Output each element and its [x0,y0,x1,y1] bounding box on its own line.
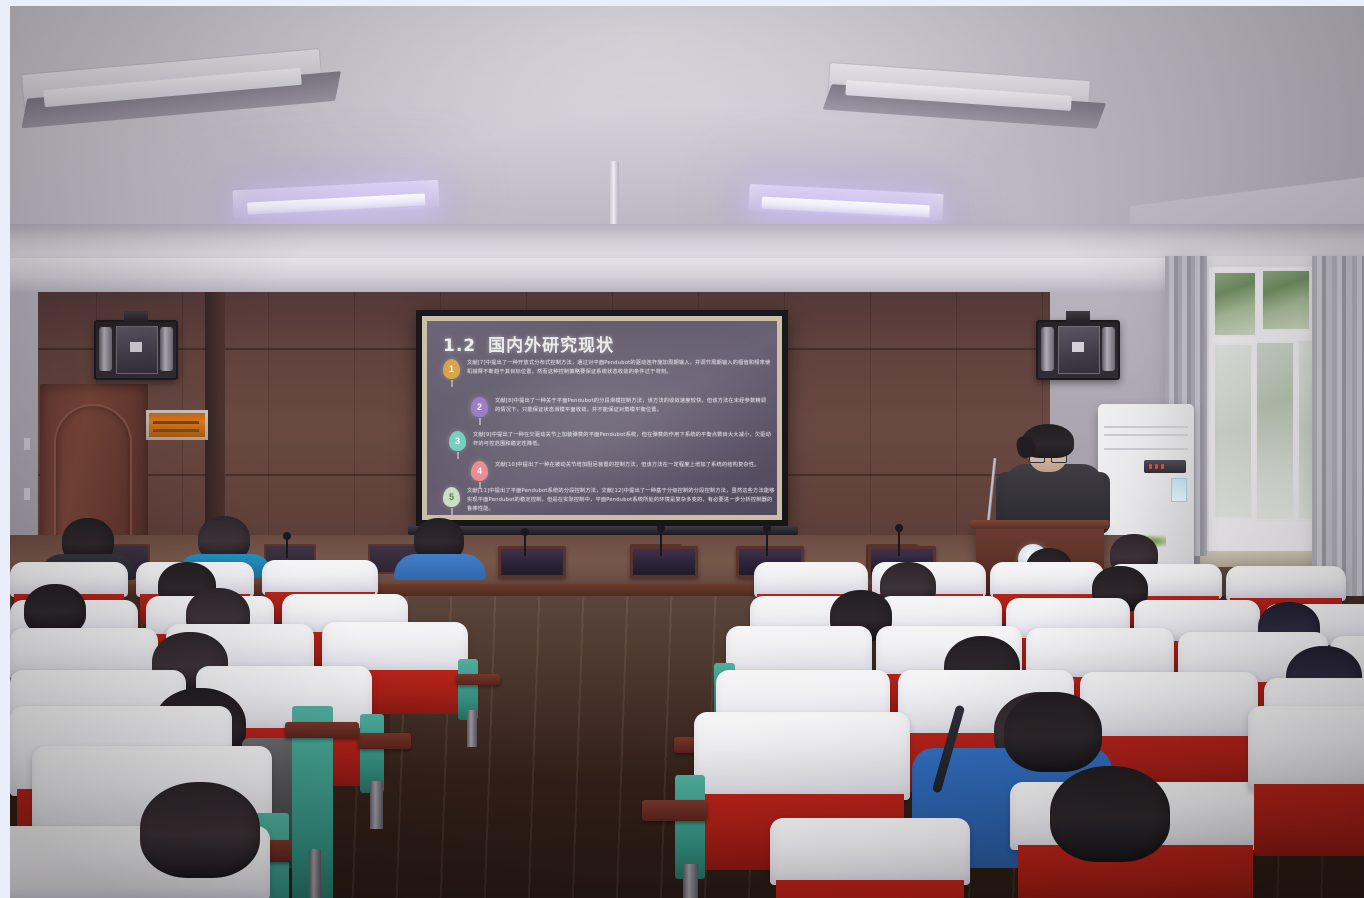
audience-head [1004,692,1102,772]
seat[interactable] [280,706,400,898]
slide-title-text: 国内外研究现状 [488,336,614,356]
speaker-side-driver [1102,327,1115,371]
bullet-text-1: 文献[7]中提出了一种开放式分布式控制方法，通过对平面Pendubot的驱动连杆… [467,359,773,379]
seat-armrest [285,722,359,738]
seat-armrest [642,800,707,821]
bullet-marker-1: 1 [443,359,460,379]
window-pane-mid-left [1213,343,1253,519]
seat-backrest [776,880,964,898]
bullet-number: 2 [477,402,482,412]
bullet-number: 4 [477,466,482,476]
slide-title: 1.2国内外研究现状 [443,331,614,356]
seat-leg [467,710,477,747]
bullet-text-2: 文献[8]中提出了一种关于平面Pendubot的分段滑模控制方法，该方法的收敛速… [495,397,771,417]
speaker-bracket [1066,311,1090,322]
bullet-marker-2: 2 [471,397,488,417]
slide-bullet-3: 3 文献[9]中提出了一种在欠驱动关节上加装弹簧的平面Pendubot系统，但在… [449,431,773,451]
amber-wall-plaque [146,410,208,440]
ac-vent-slat [1104,434,1188,436]
desk-monitor [498,546,566,578]
window-pane-mid-center [1255,341,1295,521]
slide-bullet-2: 2 文献[8]中提出了一种关于平面Pendubot的分段滑模控制方法，该方法的收… [471,397,771,417]
presentation-slide: 1.2国内外研究现状 1 文献[7]中提出了一种开放式分布式控制方法，通过对平面… [422,316,782,520]
slide-bullet-1: 1 文献[7]中提出了一种开放式分布式控制方法，通过对平面Pendubot的驱动… [443,359,773,379]
audience-head [1050,766,1170,862]
bullet-number: 3 [455,436,460,446]
desk-monitor [630,546,698,578]
ac-label-sticker [1171,478,1187,502]
seat-cover [262,560,378,595]
projector-mount-pole [610,161,619,233]
seat-backrest [1254,784,1364,856]
seat-cover [1080,672,1258,741]
window-frame [1206,264,1316,584]
seat-cover [1226,566,1346,601]
slide-section-number: 1.2 [443,336,476,356]
bullet-marker-4: 4 [471,461,488,481]
ceiling-soffit-edge [10,258,1364,296]
ac-display [1144,460,1186,473]
bullet-number: 1 [449,364,454,374]
screenshot-root: 1.2国内外研究现状 1 文献[7]中提出了一种开放式分布式控制方法，通过对平面… [0,0,1364,898]
audience-shoulders [394,554,486,580]
seat-cover [1248,706,1364,790]
speaker-side-driver [1041,327,1054,371]
window-pane-top-left [1213,271,1257,337]
gooseneck-microphone [286,538,288,558]
bullet-marker-3: 3 [449,431,466,451]
bullet-marker-5: 5 [443,487,460,507]
projection-screen-bottom-bar [408,526,798,535]
wall-speaker-right [1036,320,1120,380]
speaker-side-driver [99,327,112,371]
seat-cover [770,818,970,885]
ac-vent-slat [1104,448,1188,450]
speaker-side-driver [160,327,173,371]
plaque-face [149,413,205,437]
lecture-hall-photo: 1.2国内外研究现状 1 文献[7]中提出了一种开放式分布式控制方法，通过对平面… [10,6,1364,898]
wall-speaker-left [94,320,178,380]
ac-vent-slat [1104,426,1188,428]
audience-head [140,782,260,878]
seat-cover [694,712,910,800]
bullet-text-3: 文献[9]中提出了一种在欠驱动关节上加装弹簧的平面Pendubot系统，但在弹簧… [473,431,773,451]
gooseneck-microphone [524,534,526,556]
seat-leg [309,849,321,898]
speaker-badge [130,342,142,352]
gooseneck-microphone [660,530,662,556]
speaker-badge [1072,342,1084,352]
presenter-hair [1022,424,1074,458]
door-frame-clip [24,488,30,500]
projection-screen: 1.2国内外研究现状 1 文献[7]中提出了一种开放式分布式控制方法，通过对平面… [416,310,788,526]
seat-armrest [456,674,500,686]
slide-bullet-4: 4 文献[10]中提出了一种在被动关节增加阻尼装置的控制方法，但该方法在一定程度… [471,461,771,481]
slide-bullet-5: 5 文献[11]中提出了平面Pendubot系统的分段控制方法，文献[12]中提… [443,487,775,514]
window-pane-top-right [1261,269,1311,331]
bullet-text-5: 文献[11]中提出了平面Pendubot系统的分段控制方法，文献[12]中提出了… [467,487,775,514]
bullet-text-4: 文献[10]中提出了一种在被动关节增加阻尼装置的控制方法，但该方法在一定程度上增… [495,461,760,481]
seat-cover [990,562,1104,597]
gooseneck-microphone [898,530,900,556]
speaker-bracket [124,311,148,322]
gooseneck-microphone [766,530,768,556]
seat-leg [683,864,698,898]
door-frame-clip [24,438,30,450]
bullet-number: 5 [449,492,454,502]
seat[interactable] [770,818,970,898]
seat[interactable] [1248,706,1364,856]
podium-ledge [970,520,1110,529]
